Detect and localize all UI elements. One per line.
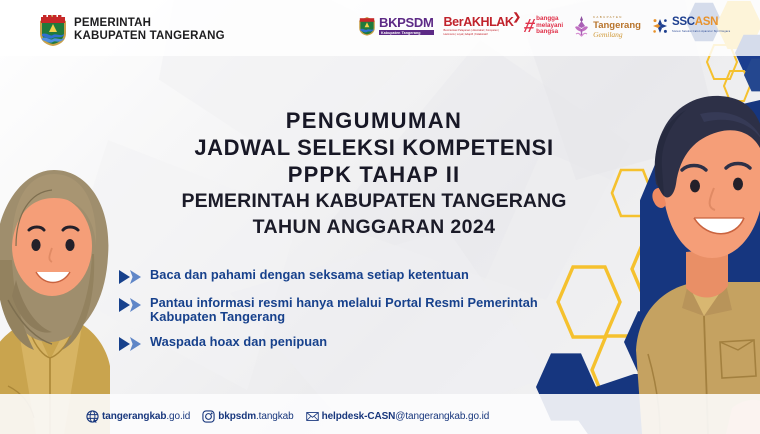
list-item: Baca dan pahami dengan seksama setiap ke… [118, 268, 588, 285]
sscasn-word-asn: ASN [695, 16, 718, 28]
list-item: Waspada hoax dan penipuan [118, 335, 588, 352]
contact-instagram-bold: bkpsdm [218, 411, 256, 422]
bangga-line-3: bangsa [536, 29, 563, 36]
title-line-1: PENGUMUMAN [100, 108, 648, 134]
contact-email-rest: @tangerangkab.go.id [395, 411, 489, 422]
title-line-3: PPPK TAHAP II [100, 161, 648, 188]
globe-icon [86, 410, 99, 423]
sscasn-star-icon [651, 17, 669, 35]
tangerang-gemilang-logo: KABUPATEN Tangerang Gemilang [573, 10, 641, 42]
title-line-2: JADWAL SELEKSI KOMPETENSI [100, 134, 648, 161]
gemilang-ornament-icon [573, 15, 590, 37]
berakhlak-subtitle: Berorientasi Pelayanan | Akuntabel | Kom… [444, 29, 506, 36]
contact-instagram-rest: .tangkab [256, 411, 294, 422]
contact-instagram[interactable]: bkpsdm.tangkab [202, 410, 293, 423]
contact-email[interactable]: helpdesk-CASN@tangerangkab.go.id [306, 410, 490, 423]
gemilang-script: Gemilang [593, 31, 641, 39]
contact-instagram-text: bkpsdm.tangkab [218, 411, 293, 422]
bkpsdm-subtitle: Kabupaten Tangerang [379, 30, 434, 35]
bkpsdm-wordmark: BKPSDM [379, 17, 434, 29]
double-chevron-icon [118, 336, 142, 352]
contact-website-text: tangerangkab.go.id [102, 411, 190, 422]
list-item-text: Pantau informasi resmi hanya melalui Por… [150, 296, 588, 324]
poster-title-block: PENGUMUMAN JADWAL SELEKSI KOMPETENSI PPP… [100, 108, 648, 240]
partner-logo-strip: BKPSDM Kabupaten Tangerang BerAKHLAK ❯ B… [358, 8, 730, 44]
sscasn-logo: SSCASN Sistem Seleksi Calon Aparatur Sip… [651, 10, 730, 42]
list-item-text: Waspada hoax dan penipuan [150, 335, 327, 349]
berakhlak-text: BerAKHLAK [444, 15, 514, 29]
berakhlak-wordmark: BerAKHLAK ❯ [444, 16, 514, 28]
sscasn-word-ssc: SSC [672, 16, 695, 28]
regency-crest-icon [358, 15, 376, 37]
list-item-text: Baca dan pahami dengan seksama setiap ke… [150, 268, 469, 282]
sscasn-subtitle: Sistem Seleksi Calon Aparatur Sipil Nega… [672, 27, 730, 37]
contact-website[interactable]: tangerangkab.go.id [86, 410, 190, 423]
contact-strip: tangerangkab.go.id bkpsdm.tangkab helpde… [86, 410, 489, 423]
envelope-icon [306, 410, 319, 423]
gov-line-2: KABUPATEN TANGERANG [74, 30, 225, 43]
title-line-5: TAHUN ANGGARAN 2024 [100, 214, 648, 240]
instructions-list: Baca dan pahami dengan seksama setiap ke… [118, 268, 588, 352]
title-line-4: PEMERINTAH KABUPATEN TANGERANG [100, 188, 648, 214]
double-chevron-icon [118, 297, 142, 313]
contact-email-text: helpdesk-CASN@tangerangkab.go.id [322, 411, 490, 422]
header-band: PEMERINTAH KABUPATEN TANGERANG BKPSDM Ka… [0, 0, 760, 56]
government-name: PEMERINTAH KABUPATEN TANGERANG [74, 17, 225, 43]
list-item: Pantau informasi resmi hanya melalui Por… [118, 296, 588, 324]
bangga-melayani-bangsa-logo: # bangga melayani bangsa [524, 10, 564, 42]
gov-line-1: PEMERINTAH [74, 17, 225, 30]
double-chevron-icon [118, 269, 142, 285]
bkpsdm-logo: BKPSDM Kabupaten Tangerang [358, 10, 434, 42]
instagram-icon [202, 410, 215, 423]
contact-email-bold: helpdesk-CASN [322, 411, 396, 422]
tangerang-regency-crest-icon [38, 13, 68, 47]
announcement-poster: PEMERINTAH KABUPATEN TANGERANG BKPSDM Ka… [0, 0, 760, 434]
woman-in-hijab-illustration [0, 150, 114, 434]
check-tick-icon: ❯ [513, 12, 521, 24]
contact-website-bold: tangerangkab [102, 411, 166, 422]
tangerang-wordmark: Tangerang [593, 21, 641, 31]
contact-website-rest: .go.id [166, 411, 190, 422]
berakhlak-logo: BerAKHLAK ❯ Berorientasi Pelayanan | Aku… [444, 10, 514, 42]
hashtag-icon: # [522, 18, 536, 35]
